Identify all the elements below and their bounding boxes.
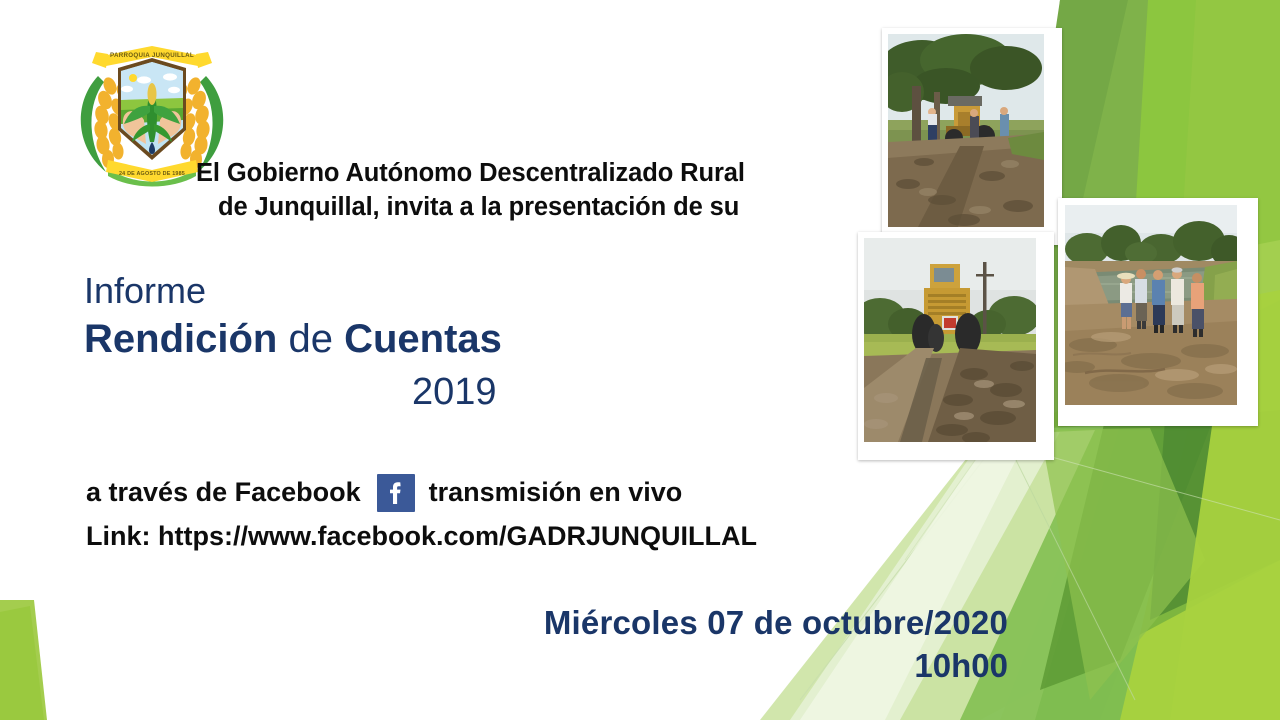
broadcast-suffix: transmisión en vivo bbox=[429, 477, 683, 508]
report-title-block: Informe Rendición de Cuentas 2019 bbox=[84, 270, 502, 414]
facebook-link[interactable]: Link: https://www.facebook.com/GADRJUNQU… bbox=[86, 521, 757, 552]
photo-group-reservoir bbox=[1058, 198, 1258, 426]
facebook-icon[interactable] bbox=[377, 474, 415, 512]
report-title-rendicion-cuentas: Rendición de Cuentas bbox=[84, 316, 502, 363]
poster-canvas: PARROQUIA JUNQUILLAL bbox=[0, 0, 1280, 720]
emblem-bottom-banner-text: 24 DE AGOSTO DE 1985 bbox=[119, 171, 185, 177]
broadcast-prefix: a través de Facebook bbox=[86, 477, 361, 508]
report-year: 2019 bbox=[84, 370, 502, 415]
report-title-rendicion: Rendición bbox=[84, 317, 277, 361]
headline: El Gobierno Autónomo Descentralizado Rur… bbox=[196, 156, 916, 224]
photo-2-image bbox=[864, 238, 1036, 442]
broadcast-block: a través de Facebook transmisión en vivo… bbox=[86, 474, 757, 552]
report-title-de: de bbox=[277, 317, 344, 361]
event-time: 10h00 bbox=[0, 647, 1008, 686]
photo-grader-dirt-road bbox=[858, 232, 1054, 460]
broadcast-row: a través de Facebook transmisión en vivo bbox=[86, 474, 757, 512]
emblem-top-banner-text: PARROQUIA JUNQUILLAL bbox=[110, 52, 194, 59]
photo-road-machinery-trees bbox=[882, 28, 1062, 245]
photo-3-image bbox=[1065, 205, 1237, 405]
event-date: Miércoles 07 de octubre/2020 bbox=[0, 604, 1008, 643]
event-datetime-block: Miércoles 07 de octubre/2020 10h00 bbox=[0, 604, 1008, 686]
headline-line-1: El Gobierno Autónomo Descentralizado Rur… bbox=[196, 156, 916, 190]
headline-line-2: de Junquillal, invita a la presentación … bbox=[196, 190, 916, 224]
photo-1-image bbox=[888, 34, 1044, 227]
report-title-informe: Informe bbox=[84, 270, 502, 312]
report-title-cuentas: Cuentas bbox=[344, 317, 502, 361]
